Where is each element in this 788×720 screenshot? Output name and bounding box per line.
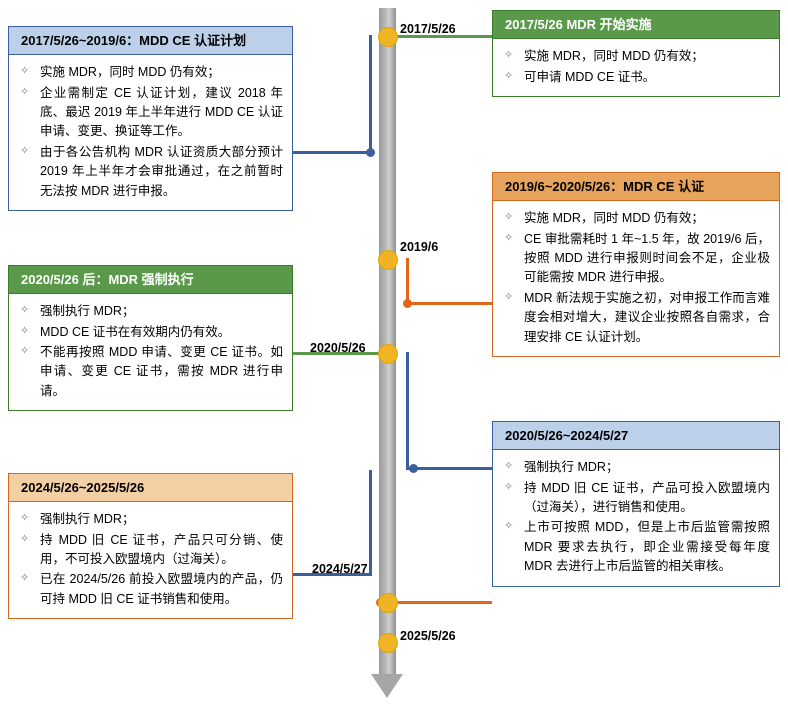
diamond-bullet-icon: ✧ (504, 479, 513, 496)
connector-2019-horizontal (406, 302, 492, 305)
connector-2020-dot (409, 464, 418, 473)
list-item: ✧实施 MDR，同时 MDD 仍有效； (18, 63, 283, 82)
diamond-bullet-icon: ✧ (20, 343, 29, 360)
timeline-label-2017: 2017/5/26 (400, 22, 456, 36)
list-item: ✧持 MDD 旧 CE 证书，产品可投入欧盟境内（过海关），进行销售和使用。 (502, 479, 770, 518)
diamond-bullet-icon: ✧ (20, 323, 29, 340)
list-item: ✧强制执行 MDR； (502, 458, 770, 477)
timeline-node-2020[interactable] (378, 344, 398, 364)
timeline-node-2025[interactable] (378, 633, 398, 653)
card-left-middle: 2020/5/26 后：MDR 强制执行 ✧强制执行 MDR； ✧MDD CE … (8, 265, 293, 411)
card-left-top-body: ✧实施 MDR，同时 MDD 仍有效； ✧企业需制定 CE 认证计划，建议 20… (8, 55, 293, 211)
diagram-canvas: 2017/5/26 2019/6 2020/5/26 2024/5/27 202… (0, 0, 788, 720)
diamond-bullet-icon: ✧ (20, 570, 29, 587)
list-item: ✧已在 2024/5/26 前投入欧盟境内的产品，仍可持 MDD 旧 CE 证书… (18, 570, 283, 609)
connector-2017-left-dot (366, 148, 375, 157)
diamond-bullet-icon: ✧ (504, 518, 513, 535)
card-left-middle-body: ✧强制执行 MDR； ✧MDD CE 证书在有效期内仍有效。 ✧不能再按照 MD… (8, 294, 293, 411)
card-right-top-title: 2017/5/26 MDR 开始实施 (492, 10, 780, 39)
diamond-bullet-icon: ✧ (504, 209, 513, 226)
timeline-node-2017[interactable] (378, 27, 398, 47)
card-right-top-body: ✧实施 MDR，同时 MDD 仍有效； ✧可申请 MDD CE 证书。 (492, 39, 780, 97)
connector-2024-vertical (369, 470, 372, 575)
timeline-label-2020: 2020/5/26 (310, 341, 366, 355)
timeline-arrow-icon (371, 674, 403, 698)
timeline-node-2024[interactable] (378, 593, 398, 613)
connector-2020-horizontal (406, 467, 492, 470)
list-item: ✧MDR 新法规于实施之初，对申报工作而言难度会相对增大，建议企业按照各自需求，… (502, 289, 770, 347)
diamond-bullet-icon: ✧ (504, 47, 513, 64)
diamond-bullet-icon: ✧ (20, 143, 29, 160)
list-item: ✧实施 MDR，同时 MDD 仍有效； (502, 209, 770, 228)
card-left-bottom: 2024/5/26~2025/5/26 ✧强制执行 MDR； ✧持 MDD 旧 … (8, 473, 293, 619)
list-item: ✧CE 审批需耗时 1 年~1.5 年，故 2019/6 后，按照 MDD 进行… (502, 230, 770, 288)
timeline-label-2019: 2019/6 (400, 240, 438, 254)
list-item: ✧强制执行 MDR； (18, 510, 283, 529)
diamond-bullet-icon: ✧ (504, 458, 513, 475)
connector-2020-vertical (406, 352, 409, 470)
timeline-label-2024: 2024/5/27 (312, 562, 368, 576)
card-right-middle-title: 2019/6~2020/5/26：MDR CE 认证 (492, 172, 780, 201)
card-right-bottom-title: 2020/5/26~2024/5/27 (492, 421, 780, 450)
diamond-bullet-icon: ✧ (20, 510, 29, 527)
diamond-bullet-icon: ✧ (20, 302, 29, 319)
diamond-bullet-icon: ✧ (504, 68, 513, 85)
diamond-bullet-icon: ✧ (504, 289, 513, 306)
card-left-top: 2017/5/26~2019/6：MDD CE 认证计划 ✧实施 MDR，同时 … (8, 26, 293, 211)
card-right-bottom: 2020/5/26~2024/5/27 ✧强制执行 MDR； ✧持 MDD 旧 … (492, 421, 780, 587)
connector-2019-vertical (406, 258, 409, 304)
diamond-bullet-icon: ✧ (504, 230, 513, 247)
connector-2017-left-vertical (369, 35, 372, 153)
diamond-bullet-icon: ✧ (20, 531, 29, 548)
timeline-axis (379, 8, 396, 678)
timeline-label-2025: 2025/5/26 (400, 629, 456, 643)
diamond-bullet-icon: ✧ (20, 63, 29, 80)
list-item: ✧由于各公告机构 MDR 认证资质大部分预计 2019 年上半年才会审批通过，在… (18, 143, 283, 201)
list-item: ✧强制执行 MDR； (18, 302, 283, 321)
list-item: ✧企业需制定 CE 认证计划，建议 2018 年底、最迟 2019 年上半年进行… (18, 84, 283, 142)
list-item: ✧实施 MDR，同时 MDD 仍有效； (502, 47, 770, 66)
card-right-middle-body: ✧实施 MDR，同时 MDD 仍有效； ✧CE 审批需耗时 1 年~1.5 年，… (492, 201, 780, 357)
card-left-bottom-title: 2024/5/26~2025/5/26 (8, 473, 293, 502)
card-right-middle: 2019/6~2020/5/26：MDR CE 认证 ✧实施 MDR，同时 MD… (492, 172, 780, 357)
card-left-middle-title: 2020/5/26 后：MDR 强制执行 (8, 265, 293, 294)
list-item: ✧持 MDD 旧 CE 证书，产品只可分销、使用，不可投入欧盟境内（过海关）。 (18, 531, 283, 570)
list-item: ✧可申请 MDD CE 证书。 (502, 68, 770, 87)
diamond-bullet-icon: ✧ (20, 84, 29, 101)
card-left-bottom-body: ✧强制执行 MDR； ✧持 MDD 旧 CE 证书，产品只可分销、使用，不可投入… (8, 502, 293, 619)
connector-2017-left-horizontal (293, 151, 372, 154)
list-item: ✧MDD CE 证书在有效期内仍有效。 (18, 323, 283, 342)
list-item: ✧上市可按照 MDD，但是上市后监管需按照 MDR 要求去执行，即企业需接受每年… (502, 518, 770, 576)
list-item: ✧不能再按照 MDD 申请、变更 CE 证书。如申请、变更 CE 证书，需按 M… (18, 343, 283, 401)
connector-2019-dot (403, 299, 412, 308)
card-left-top-title: 2017/5/26~2019/6：MDD CE 认证计划 (8, 26, 293, 55)
card-right-bottom-body: ✧强制执行 MDR； ✧持 MDD 旧 CE 证书，产品可投入欧盟境内（过海关）… (492, 450, 780, 586)
card-right-top: 2017/5/26 MDR 开始实施 ✧实施 MDR，同时 MDD 仍有效； ✧… (492, 10, 780, 97)
timeline-node-2019[interactable] (378, 250, 398, 270)
